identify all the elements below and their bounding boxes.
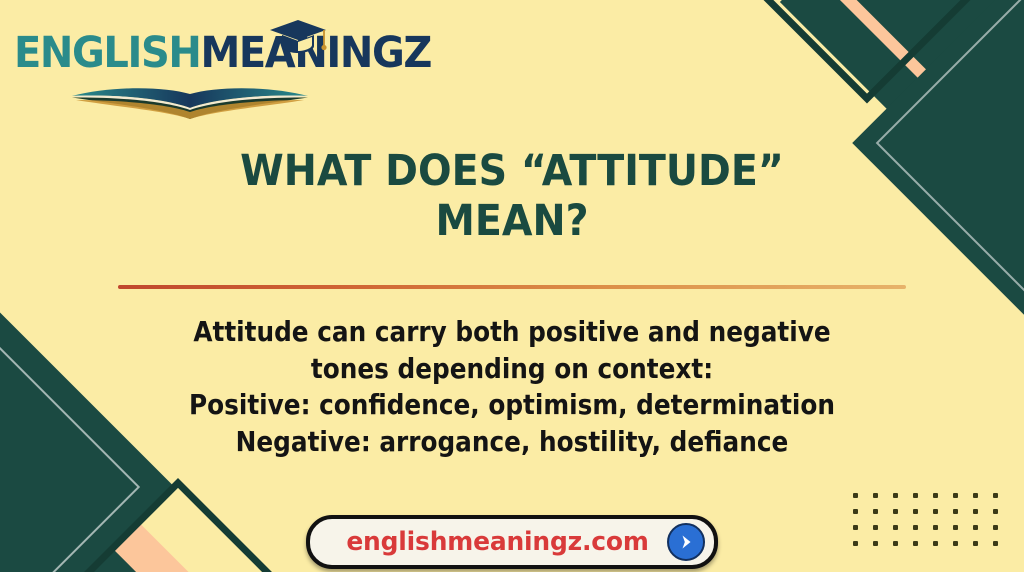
decor-dot xyxy=(933,509,938,514)
website-url-label: englishmeaningz.com xyxy=(346,527,648,557)
chevron-right-icon[interactable] xyxy=(667,523,705,561)
decor-top-right-green-square-2 xyxy=(788,0,1024,82)
decor-dot xyxy=(973,541,978,546)
title-line-2: MEAN? xyxy=(41,196,983,246)
decor-dot xyxy=(873,509,878,514)
decor-dot xyxy=(933,525,938,530)
decor-dot xyxy=(913,493,918,498)
definition-line: Attitude can carry both positive and neg… xyxy=(51,314,973,351)
website-url-pill[interactable]: englishmeaningz.com xyxy=(306,515,718,569)
decor-dot xyxy=(953,493,958,498)
decor-dot xyxy=(973,493,978,498)
decor-dot xyxy=(873,525,878,530)
logo-text-english: ENGLISH xyxy=(14,28,200,78)
decor-dot xyxy=(933,493,938,498)
decor-dot xyxy=(973,509,978,514)
decor-bottom-left-green-square-2 xyxy=(0,467,137,572)
decor-dot xyxy=(993,509,998,514)
brand-logo[interactable]: ENGLISHMEANINGZ xyxy=(14,14,364,109)
decor-dot xyxy=(873,541,878,546)
decor-dot xyxy=(993,541,998,546)
decor-top-right-peach-square xyxy=(804,0,1024,128)
divider-rule xyxy=(118,285,906,289)
decor-dot xyxy=(873,493,878,498)
decor-dot xyxy=(913,509,918,514)
decor-dot xyxy=(893,509,898,514)
decor-dot xyxy=(913,541,918,546)
logo-wordmark: ENGLISHMEANINGZ xyxy=(14,32,431,75)
definition-line: Positive: confidence, optimism, determin… xyxy=(51,387,973,424)
decor-dot xyxy=(893,493,898,498)
decor-dot xyxy=(853,509,858,514)
definition-line: tones depending on context: xyxy=(51,351,973,388)
title-line-1: WHAT DOES “ATTITUDE” xyxy=(41,146,983,196)
poster-canvas: ENGLISHMEANINGZ xyxy=(0,0,1024,572)
decor-bottom-left-outline-square xyxy=(62,478,294,572)
decor-dot xyxy=(853,541,858,546)
decor-dot-grid xyxy=(853,493,998,546)
decor-dot xyxy=(973,525,978,530)
definition-body: Attitude can carry both positive and neg… xyxy=(51,314,973,460)
decor-dot xyxy=(933,541,938,546)
definition-line: Negative: arrogance, hostility, defiance xyxy=(51,424,973,461)
decor-dot xyxy=(913,525,918,530)
decor-dot xyxy=(893,541,898,546)
page-title: WHAT DOES “ATTITUDE” MEAN? xyxy=(41,146,983,247)
decor-dot xyxy=(993,525,998,530)
decor-dot xyxy=(853,525,858,530)
decor-dot xyxy=(953,541,958,546)
decor-dot xyxy=(953,509,958,514)
decor-dot xyxy=(953,525,958,530)
open-book-icon xyxy=(66,86,314,120)
decor-dot xyxy=(893,525,898,530)
decor-dot xyxy=(853,493,858,498)
decor-top-right-outline-square xyxy=(719,0,1016,103)
decor-dot xyxy=(993,493,998,498)
graduation-cap-icon xyxy=(266,16,330,56)
